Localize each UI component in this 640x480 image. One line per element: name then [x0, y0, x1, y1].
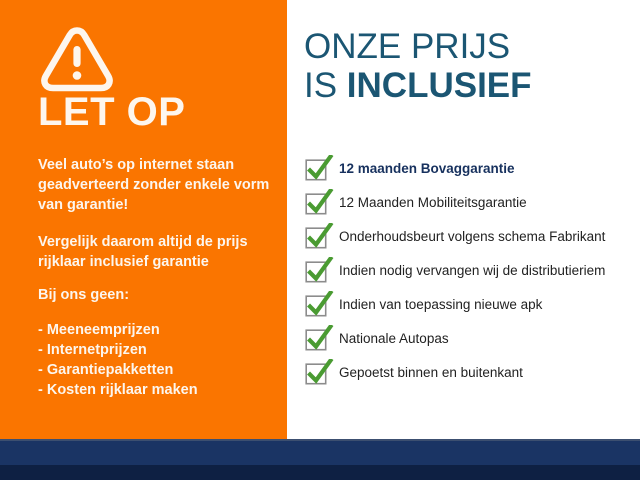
benefit-label: Onderhoudsbeurt volgens schema Fabrikant — [339, 229, 605, 245]
benefit-label: Indien van toepassing nieuwe apk — [339, 297, 542, 313]
list-item: - Meeneemprijzen — [38, 320, 198, 340]
warning-triangle-icon — [40, 24, 114, 92]
headline-line-1: ONZE PRIJS — [304, 27, 510, 66]
page-title: LET OP — [38, 92, 185, 132]
bottom-bar-primary — [0, 441, 640, 465]
list-item: Onderhoudsbeurt volgens schema Fabrikant — [301, 220, 640, 254]
benefit-label: Gepoetst binnen en buitenkant — [339, 365, 523, 381]
bottom-bar-secondary — [0, 465, 640, 480]
checked-checkbox-icon — [305, 325, 329, 349]
list-item: Indien nodig vervangen wij de distributi… — [301, 254, 640, 288]
warning-panel: LET OP Veel auto’s op internet staan gea… — [0, 0, 287, 441]
headline-line-2-prefix: IS — [304, 66, 347, 105]
benefit-label: 12 maanden Bovaggarantie — [339, 161, 515, 177]
warning-paragraph-1: Veel auto’s op internet staan geadvertee… — [38, 155, 278, 215]
list-item: Gepoetst binnen en buitenkant — [301, 356, 640, 390]
checked-checkbox-icon — [305, 291, 329, 315]
list-item: - Kosten rijklaar maken — [38, 380, 198, 400]
benefit-label: Nationale Autopas — [339, 331, 449, 347]
benefit-label: Indien nodig vervangen wij de distributi… — [339, 263, 605, 279]
promotional-banner: LET OP Veel auto’s op internet staan gea… — [0, 0, 640, 480]
checked-checkbox-icon — [305, 257, 329, 281]
checked-checkbox-icon — [305, 189, 329, 213]
headline-line-2-strong: INCLUSIEF — [347, 66, 532, 105]
inclusive-price-panel: ONZE PRIJSIS INCLUSIEF 12 maanden Bovagg… — [287, 0, 640, 441]
list-item: - Garantiepakketten — [38, 360, 198, 380]
warning-paragraph-3: Bij ons geen: — [38, 285, 278, 305]
benefit-label: 12 Maanden Mobiliteitsgarantie — [339, 195, 527, 211]
list-item: Nationale Autopas — [301, 322, 640, 356]
checked-checkbox-icon — [305, 223, 329, 247]
list-item: 12 maanden Bovaggarantie — [301, 152, 640, 186]
checked-checkbox-icon — [305, 155, 329, 179]
benefit-list: 12 maanden Bovaggarantie 12 Maanden Mobi… — [301, 152, 640, 390]
exclusion-list: - Meeneemprijzen - Internetprijzen - Gar… — [38, 320, 198, 400]
checked-checkbox-icon — [305, 359, 329, 383]
warning-paragraph-2: Vergelijk daarom altijd de prijs rijklaa… — [38, 232, 278, 272]
list-item: 12 Maanden Mobiliteitsgarantie — [301, 186, 640, 220]
headline: ONZE PRIJSIS INCLUSIEF — [304, 27, 532, 105]
list-item: Indien van toepassing nieuwe apk — [301, 288, 640, 322]
list-item: - Internetprijzen — [38, 340, 198, 360]
